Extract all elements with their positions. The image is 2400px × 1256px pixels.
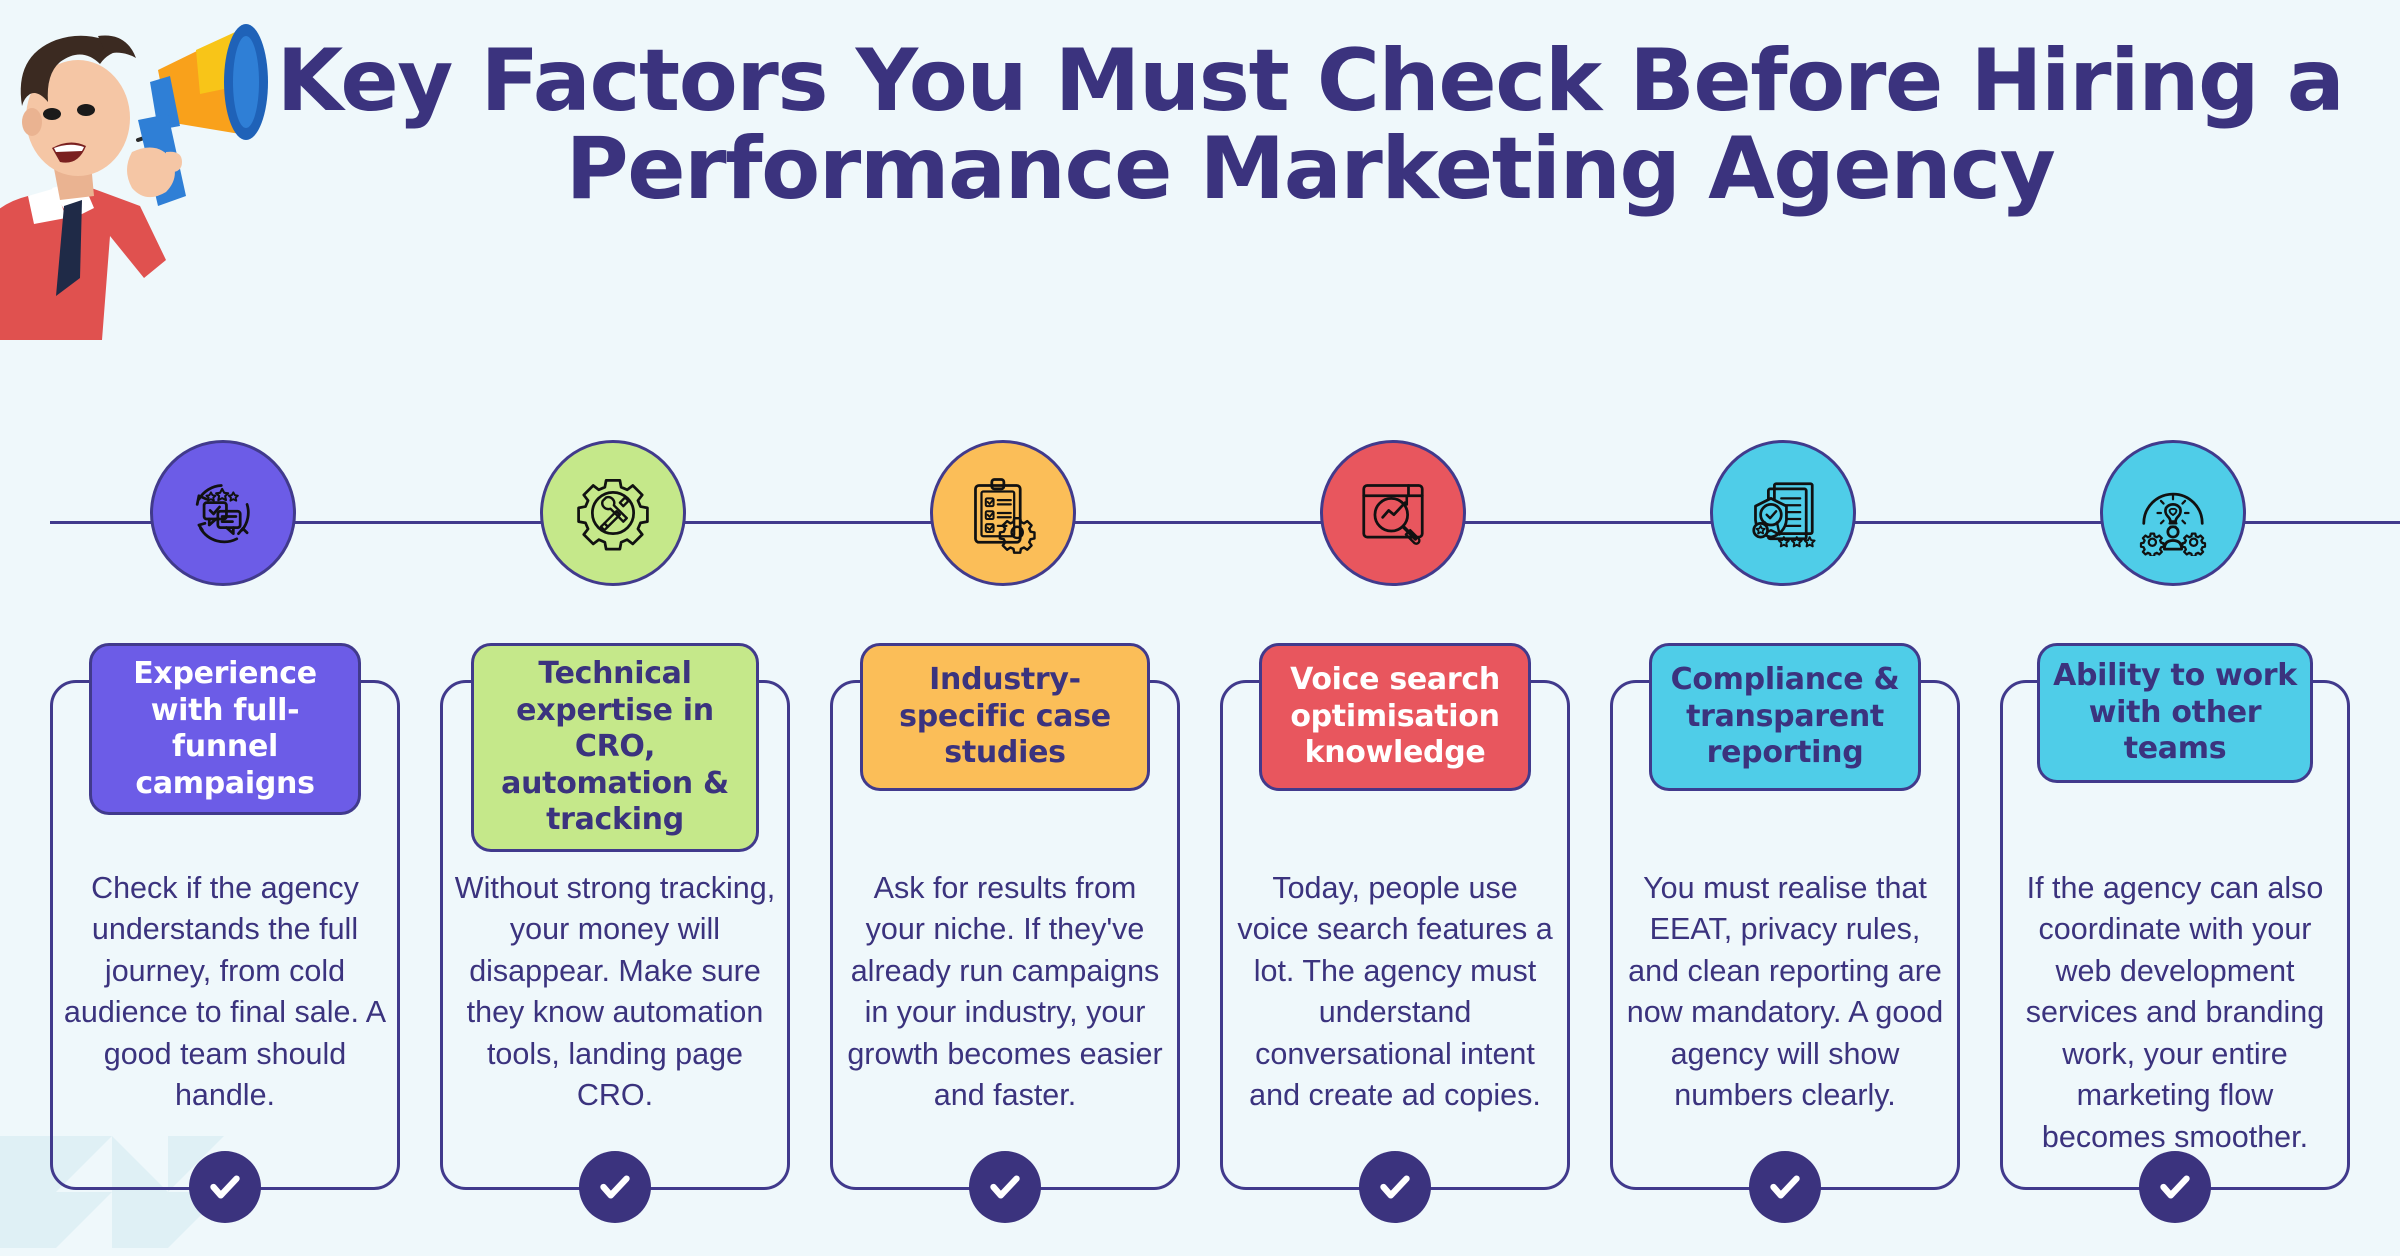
factor-card-header-4: Voice search optimisation knowledge: [1259, 643, 1531, 791]
check-circle-icon-6: [2139, 1151, 2211, 1223]
check-glyph: [1764, 1166, 1806, 1208]
factor-card-row: Experience with full-funnel campaigns Ch…: [0, 640, 2400, 1200]
check-glyph: [2154, 1166, 2196, 1208]
clipboard-checklist-gear-icon: [960, 470, 1046, 556]
timeline-icon-circle-1[interactable]: [150, 440, 296, 586]
factor-card-1[interactable]: Experience with full-funnel campaigns Ch…: [50, 680, 400, 1190]
check-glyph: [204, 1166, 246, 1208]
review-feedback-icon: [180, 470, 266, 556]
factor-card-header-1: Experience with full-funnel campaigns: [89, 643, 361, 815]
timeline-icon-circle-4[interactable]: [1320, 440, 1466, 586]
timeline-icon-circle-6[interactable]: [2100, 440, 2246, 586]
factor-card-header-2: Technical expertise in CRO, automation &…: [471, 643, 759, 852]
factor-card-header-label: Technical expertise in CRO, automation &…: [482, 656, 748, 839]
check-glyph: [984, 1166, 1026, 1208]
factor-card-5[interactable]: Compliance & transparent reporting You m…: [1610, 680, 1960, 1190]
check-circle-icon-4: [1359, 1151, 1431, 1223]
factor-card-header-3: Industry-specific case studies: [860, 643, 1150, 791]
man-with-megaphone-illustration: [0, 10, 270, 340]
factor-card-header-label: Ability to work with other teams: [2048, 658, 2302, 768]
check-glyph: [1374, 1166, 1416, 1208]
factor-card-body-1: Check if the agency understands the full…: [63, 868, 387, 1117]
check-circle-icon-2: [579, 1151, 651, 1223]
factor-card-body-3: Ask for results from your niche. If they…: [843, 868, 1167, 1117]
page-title: Key Factors You Must Check Before Hiring…: [270, 38, 2350, 213]
infographic-canvas: Key Factors You Must Check Before Hiring…: [0, 0, 2400, 1256]
check-circle-icon-1: [189, 1151, 261, 1223]
chart-magnifier-icon: [1350, 470, 1436, 556]
factor-card-header-6: Ability to work with other teams: [2037, 643, 2313, 783]
check-circle-icon-3: [969, 1151, 1041, 1223]
factor-card-header-label: Compliance & transparent reporting: [1660, 662, 1910, 772]
check-circle-icon-5: [1749, 1151, 1821, 1223]
check-glyph: [594, 1166, 636, 1208]
timeline-icon-circle-5[interactable]: [1710, 440, 1856, 586]
factor-card-header-label: Experience with full-funnel campaigns: [100, 656, 350, 802]
certificate-badge-stars-icon: [1740, 470, 1826, 556]
timeline-icon-row: [0, 440, 2400, 610]
lightbulb-teamwork-gears-icon: [2130, 470, 2216, 556]
factor-card-2[interactable]: Technical expertise in CRO, automation &…: [440, 680, 790, 1190]
factor-card-body-5: You must realise that EEAT, privacy rule…: [1623, 868, 1947, 1117]
timeline-icon-circle-2[interactable]: [540, 440, 686, 586]
factor-card-6[interactable]: Ability to work with other teams If the …: [2000, 680, 2350, 1190]
factor-card-body-6: If the agency can also coordinate with y…: [2013, 868, 2337, 1158]
timeline-icon-circle-3[interactable]: [930, 440, 1076, 586]
factor-card-header-5: Compliance & transparent reporting: [1649, 643, 1921, 791]
factor-card-body-2: Without strong tracking, your money will…: [453, 868, 777, 1117]
factor-card-3[interactable]: Industry-specific case studies Ask for r…: [830, 680, 1180, 1190]
gear-tools-icon: [570, 470, 656, 556]
factor-card-header-label: Voice search optimisation knowledge: [1270, 662, 1520, 772]
factor-card-4[interactable]: Voice search optimisation knowledge Toda…: [1220, 680, 1570, 1190]
factor-card-header-label: Industry-specific case studies: [871, 662, 1139, 772]
factor-card-body-4: Today, people use voice search features …: [1233, 868, 1557, 1117]
